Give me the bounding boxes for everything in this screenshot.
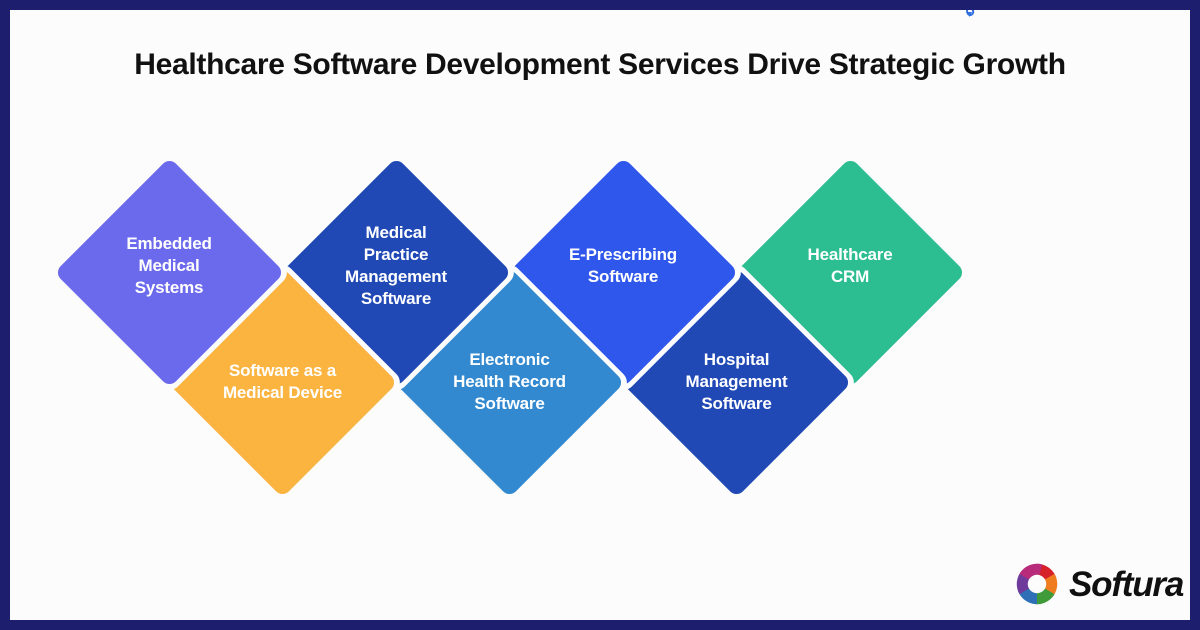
diamond-label-line: Health Record	[435, 371, 585, 393]
diamond-label-line: Embedded	[94, 233, 244, 255]
diamond-label: HospitalManagementSoftware	[662, 349, 812, 415]
diamond-label-line: CRM	[775, 266, 925, 288]
softura-aperture-icon	[1015, 562, 1059, 606]
infographic-content: Healthcare Software Development Services…	[10, 10, 1190, 620]
diamond-embedded-medical-systems[interactable]: EmbeddedMedicalSystems	[88, 191, 251, 354]
diamond-label-line: Software	[662, 393, 812, 415]
diamond-label: Software as aMedical Device	[208, 360, 358, 404]
diamond-label-line: Software	[435, 393, 585, 415]
diamond-label: HealthcareCRM	[775, 244, 925, 288]
diamond-label-line: Systems	[94, 277, 244, 299]
diamond-label-line: Practice	[321, 244, 471, 266]
softura-logo: Softura	[1015, 558, 1190, 610]
diamond-label: ElectronicHealth RecordSoftware	[435, 349, 585, 415]
diamond-label-line: Medical Device	[208, 382, 358, 404]
diamond-label-line: Software	[548, 266, 698, 288]
diamond-label-line: Management	[662, 371, 812, 393]
diamond-label-line: E-Prescribing	[548, 244, 698, 266]
diamond-label-line: Medical	[94, 255, 244, 277]
softura-wordmark: Softura	[1069, 567, 1183, 602]
diamond-label-line: Software as a	[208, 360, 358, 382]
diamond-label-line: Healthcare	[775, 244, 925, 266]
diamond-label-line: Management	[321, 266, 471, 288]
healthcare-software-diagram: EmbeddedMedicalSystemsSoftware as aMedic…	[10, 10, 1190, 620]
infographic-canvas: Healthcare Software Development Services…	[0, 0, 1200, 630]
diamond-label: EmbeddedMedicalSystems	[94, 233, 244, 299]
diamond-label: MedicalPracticeManagementSoftware	[321, 222, 471, 310]
diamond-label-line: Medical	[321, 222, 471, 244]
diamond-label: E-PrescribingSoftware	[548, 244, 698, 288]
